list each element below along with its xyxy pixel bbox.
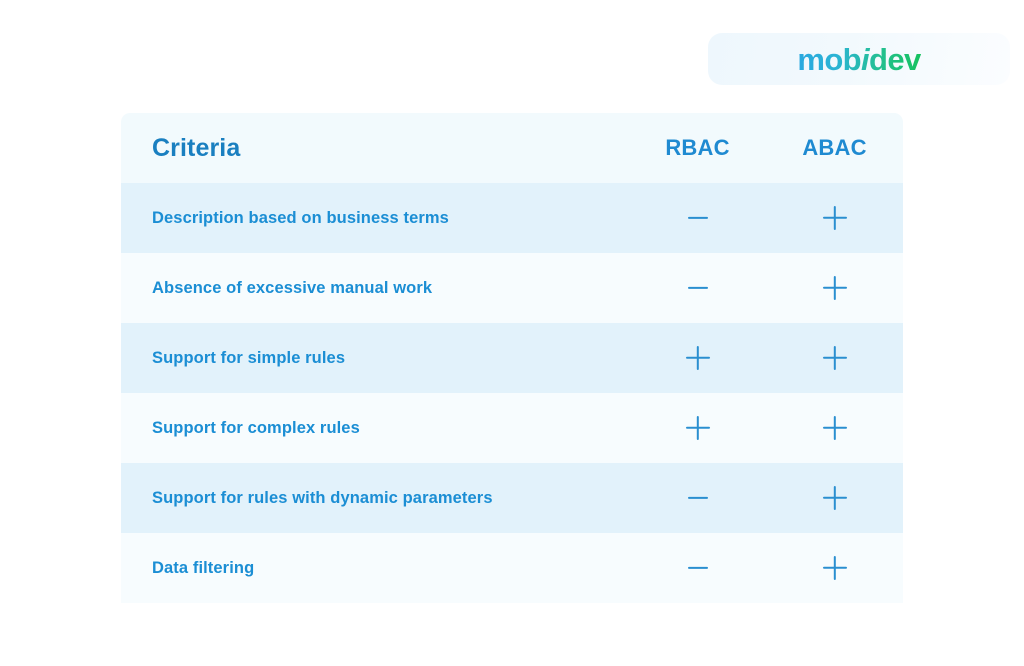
rbac-support-plus-icon xyxy=(685,345,711,371)
logo-text-italic-i: i xyxy=(861,42,869,77)
row-cell-abac xyxy=(766,275,903,301)
abac-support-plus-icon xyxy=(822,345,848,371)
rbac-support-plus-icon xyxy=(685,415,711,441)
table-row: Support for simple rules xyxy=(121,323,903,393)
logo-text-part1: mob xyxy=(797,42,861,77)
row-cell-rbac xyxy=(629,205,766,231)
logo-text-part2: dev xyxy=(869,42,921,77)
row-cell-abac xyxy=(766,555,903,581)
table-row: Data filtering xyxy=(121,533,903,603)
row-cell-abac xyxy=(766,345,903,371)
row-cell-abac xyxy=(766,205,903,231)
abac-support-plus-icon xyxy=(822,275,848,301)
row-cell-criteria: Description based on business terms xyxy=(121,209,629,228)
row-cell-rbac xyxy=(629,275,766,301)
row-cell-rbac xyxy=(629,415,766,441)
row-cell-criteria: Support for simple rules xyxy=(121,349,629,368)
rbac-support-minus-icon xyxy=(687,275,709,301)
header-cell-rbac: RBAC xyxy=(629,135,766,161)
header-cell-criteria: Criteria xyxy=(121,134,629,163)
row-cell-rbac xyxy=(629,555,766,581)
rbac-support-minus-icon xyxy=(687,485,709,511)
row-cell-abac xyxy=(766,415,903,441)
table-body: Description based on business termsAbsen… xyxy=(121,183,903,603)
table-row: Support for rules with dynamic parameter… xyxy=(121,463,903,533)
row-cell-abac xyxy=(766,485,903,511)
criteria-label: Absence of excessive manual work xyxy=(152,279,432,297)
criteria-label: Support for complex rules xyxy=(152,419,360,437)
abac-support-plus-icon xyxy=(822,205,848,231)
criteria-label: Description based on business terms xyxy=(152,209,449,227)
row-cell-criteria: Support for rules with dynamic parameter… xyxy=(121,489,629,508)
table-header-row: Criteria RBAC ABAC xyxy=(121,113,903,183)
row-cell-criteria: Data filtering xyxy=(121,559,629,578)
table-row: Support for complex rules xyxy=(121,393,903,463)
column-header-rbac: RBAC xyxy=(665,135,729,161)
table-row: Description based on business terms xyxy=(121,183,903,253)
header-cell-abac: ABAC xyxy=(766,135,903,161)
criteria-label: Support for rules with dynamic parameter… xyxy=(152,489,493,507)
rbac-abac-comparison-table: Criteria RBAC ABAC Description based on … xyxy=(121,113,903,603)
row-cell-criteria: Absence of excessive manual work xyxy=(121,279,629,298)
rbac-support-minus-icon xyxy=(687,205,709,231)
criteria-label: Data filtering xyxy=(152,559,254,577)
abac-support-plus-icon xyxy=(822,485,848,511)
abac-support-plus-icon xyxy=(822,555,848,581)
table-row: Absence of excessive manual work xyxy=(121,253,903,323)
row-cell-criteria: Support for complex rules xyxy=(121,419,629,438)
row-cell-rbac xyxy=(629,345,766,371)
abac-support-plus-icon xyxy=(822,415,848,441)
column-header-criteria: Criteria xyxy=(152,134,240,162)
rbac-support-minus-icon xyxy=(687,555,709,581)
column-header-abac: ABAC xyxy=(802,135,866,161)
brand-badge: mobidev xyxy=(708,33,1010,85)
row-cell-rbac xyxy=(629,485,766,511)
criteria-label: Support for simple rules xyxy=(152,349,345,367)
mobidev-logo: mobidev xyxy=(797,44,920,75)
